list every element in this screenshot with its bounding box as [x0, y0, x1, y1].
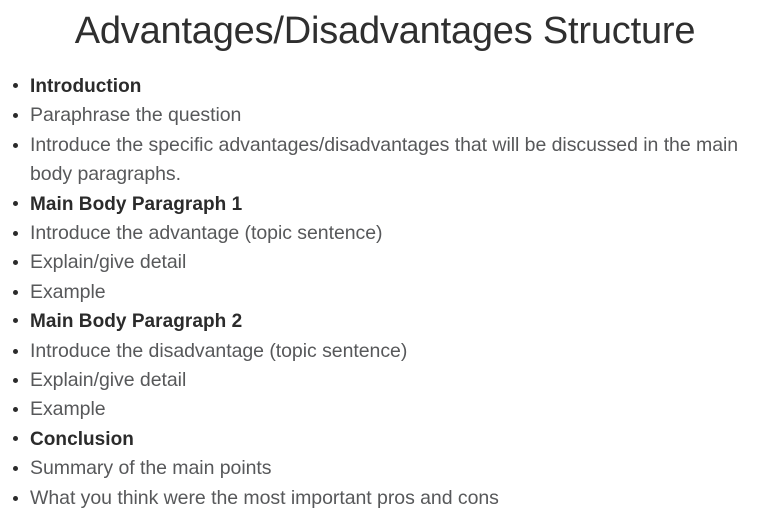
- page-title: Advantages/Disadvantages Structure: [0, 7, 770, 55]
- bullet-dot-icon: [13, 113, 18, 118]
- list-item: Example: [10, 395, 758, 424]
- list-item-label: Explain/give detail: [30, 248, 758, 277]
- bullet-dot-icon: [13, 231, 18, 236]
- outline-bullet-list: Introduction Paraphrase the question Int…: [10, 72, 758, 513]
- list-item-label: Introduction: [30, 72, 758, 101]
- bullet-dot-icon: [13, 378, 18, 383]
- bullet-dot-icon: [13, 496, 18, 501]
- list-item: Explain/give detail: [10, 248, 758, 277]
- list-item: Paraphrase the question: [10, 101, 758, 130]
- list-item: Summary of the main points: [10, 454, 758, 483]
- list-item-label: Explain/give detail: [30, 366, 758, 395]
- bullet-dot-icon: [13, 349, 18, 354]
- bullet-dot-icon: [13, 407, 18, 412]
- slide-canvas: Advantages/Disadvantages Structure Intro…: [0, 0, 770, 508]
- list-item-label: Introduce the disadvantage (topic senten…: [30, 337, 758, 366]
- list-item-label: Main Body Paragraph 1: [30, 190, 758, 219]
- list-item-label: What you think were the most important p…: [30, 484, 758, 513]
- bullet-dot-icon: [13, 201, 18, 206]
- bullet-dot-icon: [13, 290, 18, 295]
- list-item: Explain/give detail: [10, 366, 758, 395]
- bullet-dot-icon: [13, 143, 18, 148]
- list-item-label: Example: [30, 395, 758, 424]
- bullet-dot-icon: [13, 436, 18, 441]
- list-item-label: Summary of the main points: [30, 454, 758, 483]
- list-item: Example: [10, 278, 758, 307]
- list-item-label: Introduce the specific advantages/disadv…: [30, 131, 758, 190]
- list-item: What you think were the most important p…: [10, 484, 758, 513]
- bullet-dot-icon: [13, 260, 18, 265]
- list-item: Introduce the specific advantages/disadv…: [10, 131, 758, 190]
- list-item: Conclusion: [10, 425, 758, 454]
- list-item-label: Conclusion: [30, 425, 758, 454]
- list-item: Main Body Paragraph 2: [10, 307, 758, 336]
- list-item: Introduction: [10, 72, 758, 101]
- bullet-dot-icon: [13, 318, 18, 323]
- bullet-dot-icon: [13, 83, 18, 88]
- list-item-label: Introduce the advantage (topic sentence): [30, 219, 758, 248]
- list-item-label: Paraphrase the question: [30, 101, 758, 130]
- list-item: Introduce the disadvantage (topic senten…: [10, 337, 758, 366]
- bullet-dot-icon: [13, 466, 18, 471]
- list-item: Introduce the advantage (topic sentence): [10, 219, 758, 248]
- list-item-label: Main Body Paragraph 2: [30, 307, 758, 336]
- list-item-label: Example: [30, 278, 758, 307]
- list-item: Main Body Paragraph 1: [10, 190, 758, 219]
